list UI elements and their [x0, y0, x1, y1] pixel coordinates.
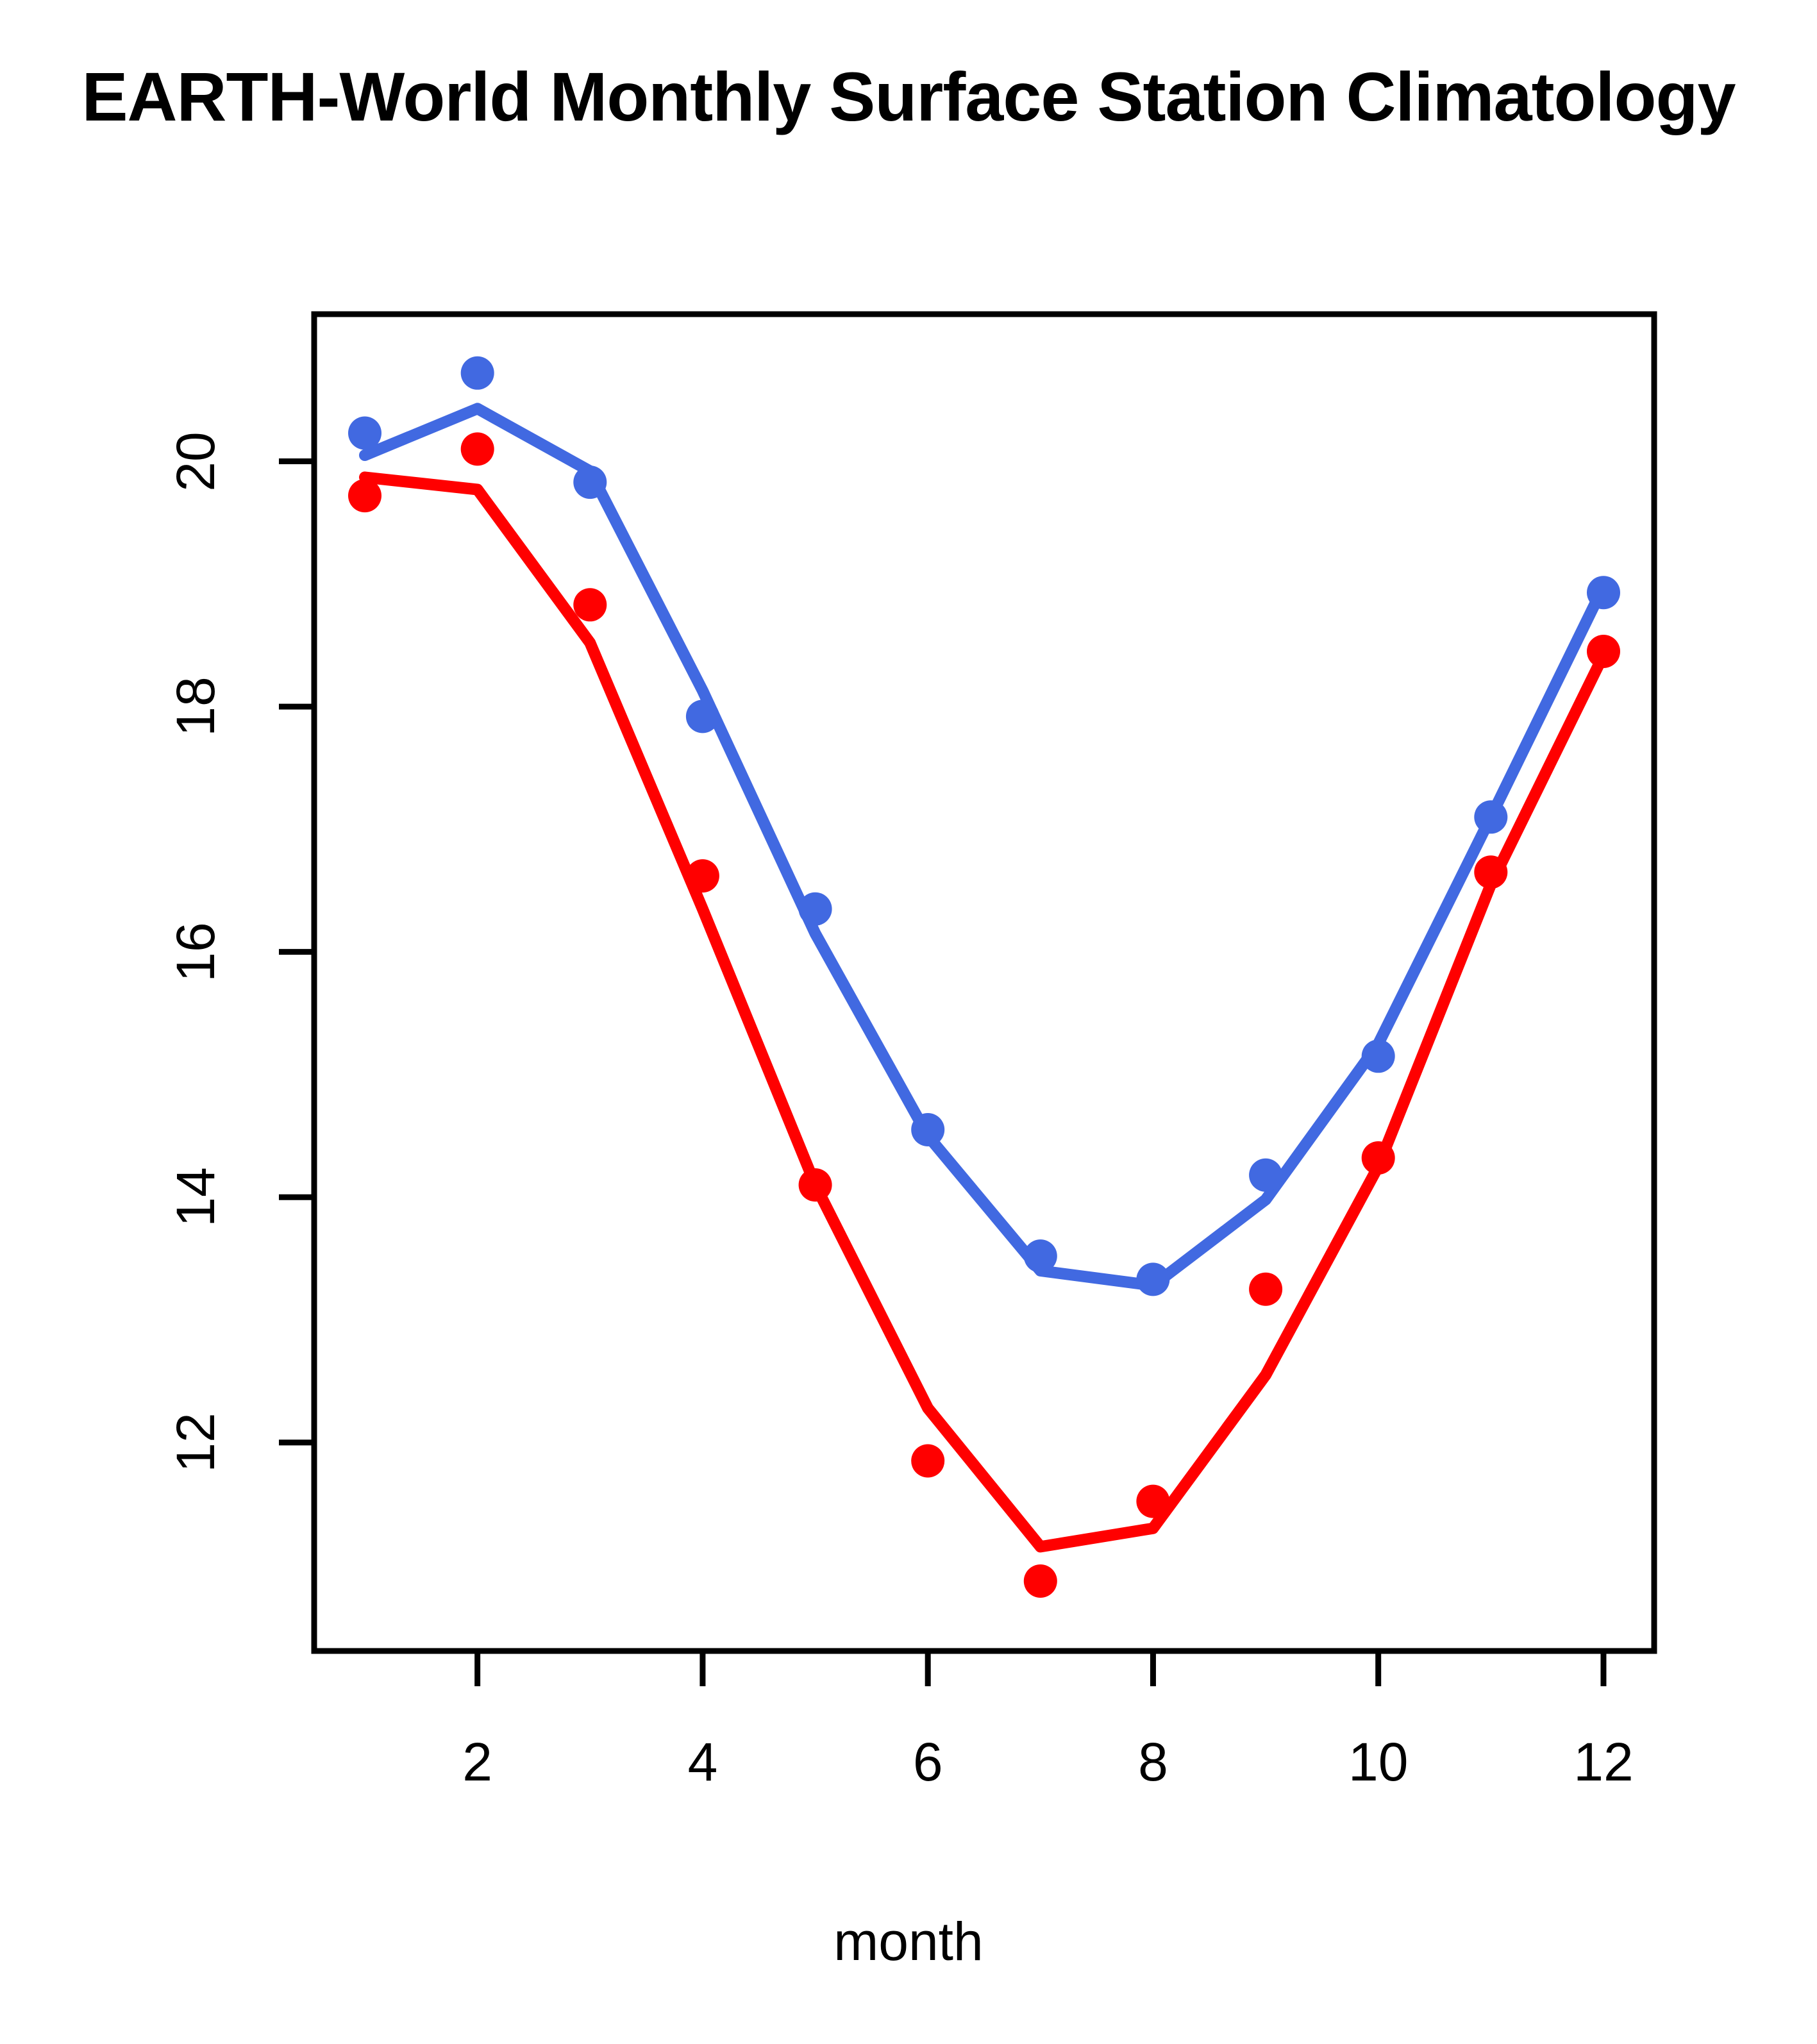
data-point-blue-series: [1249, 1159, 1282, 1192]
data-point-blue-series: [799, 892, 832, 926]
data-point-red-series: [1024, 1564, 1057, 1598]
data-point-red-series: [686, 859, 719, 892]
data-point-red-series: [461, 432, 494, 465]
series-line-red-series: [365, 477, 1603, 1546]
x-axis-tick-label: 8: [1076, 1731, 1230, 1793]
chart-root: EARTH-World Monthly Surface Station Clim…: [0, 0, 1817, 2044]
y-axis-tick-label: 20: [163, 404, 228, 519]
data-point-red-series: [1587, 635, 1620, 668]
y-axis-tick-label: 18: [163, 649, 228, 764]
data-point-red-series: [348, 479, 381, 512]
y-axis-tick-label: 14: [163, 1139, 228, 1255]
data-point-blue-series: [1136, 1262, 1169, 1296]
data-point-blue-series: [911, 1113, 944, 1146]
data-point-red-series: [1136, 1485, 1169, 1518]
y-axis-tick-label: 16: [163, 894, 228, 1010]
data-point-blue-series: [686, 699, 719, 733]
x-axis-tick-label: 2: [401, 1731, 555, 1793]
data-point-red-series: [799, 1168, 832, 1202]
data-point-blue-series: [348, 417, 381, 450]
data-point-blue-series: [1362, 1039, 1395, 1073]
data-point-blue-series: [573, 465, 607, 499]
x-axis-label: month: [0, 1911, 1817, 1973]
data-point-red-series: [1474, 855, 1507, 889]
y-axis-tick-label: 12: [163, 1385, 228, 1500]
data-point-blue-series: [461, 356, 494, 390]
x-axis-tick-label: 12: [1527, 1731, 1680, 1793]
plot-area: 121416182024681012: [0, 0, 1817, 2044]
data-point-red-series: [573, 588, 607, 621]
x-axis-tick-label: 10: [1302, 1731, 1455, 1793]
data-point-red-series: [1362, 1141, 1395, 1175]
x-axis-tick-label: 6: [851, 1731, 1005, 1793]
data-point-blue-series: [1474, 800, 1507, 834]
data-point-blue-series: [1587, 576, 1620, 609]
series-line-blue-series: [365, 408, 1603, 1286]
data-point-blue-series: [1024, 1239, 1057, 1273]
data-point-red-series: [1249, 1273, 1282, 1306]
data-point-red-series: [911, 1445, 944, 1478]
x-axis-tick-label: 4: [626, 1731, 780, 1793]
